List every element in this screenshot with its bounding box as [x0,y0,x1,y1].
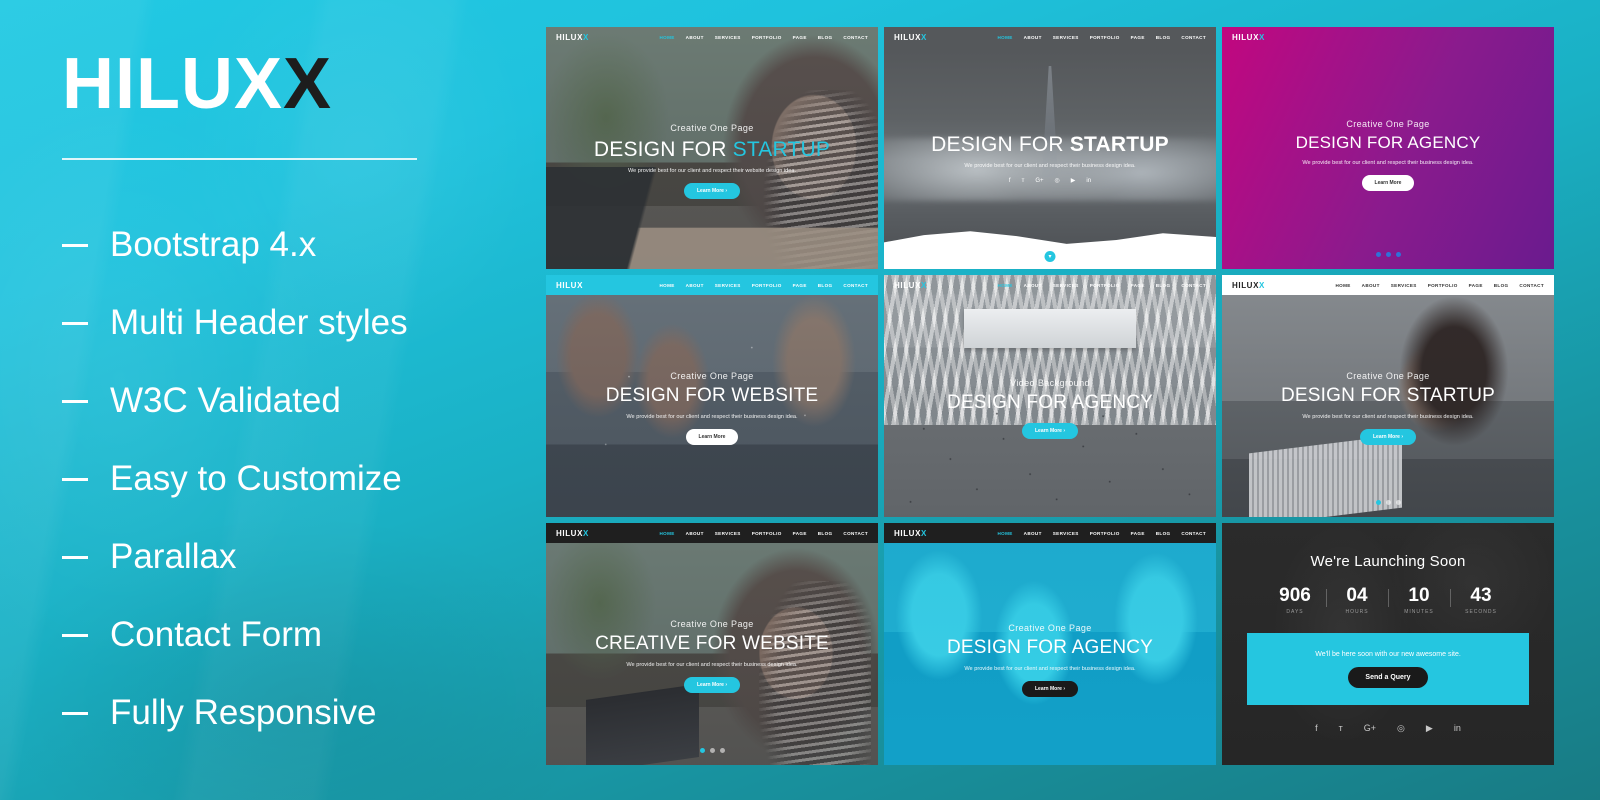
slider-dots[interactable] [546,748,878,753]
nav-item-contact[interactable]: CONTACT [843,35,868,40]
hero-block: Creative One Page DESIGN FOR STARTUP We … [1222,371,1554,445]
mini-navbar: HILUXX HOME ABOUT SERVICES PORTFOLIO PAG… [884,27,1216,47]
learn-more-button[interactable]: Learn More › [684,677,740,693]
slider-dots[interactable] [1222,252,1554,257]
nav-item-about[interactable]: ABOUT [686,531,704,536]
nav-item-home[interactable]: HOME [997,531,1012,536]
slider-dots[interactable] [1222,500,1554,505]
promo-banner: HILUXX Bootstrap 4.x Multi Header styles… [0,0,1600,800]
learn-more-button[interactable]: Learn More › [1360,429,1416,445]
instagram-icon[interactable]: ◎ [1397,724,1405,733]
brand-logo-accent: X [283,44,332,124]
mini-logo: HILUX [556,281,583,290]
slider-dot[interactable] [700,748,705,753]
launch-title: We're Launching Soon [1310,553,1465,570]
feature-item: Parallax [62,518,545,596]
nav-item-services[interactable]: SERVICES [715,531,741,536]
hero-kicker: Creative One Page [546,123,878,133]
hero-subtitle: We provide best for our client and respe… [546,662,878,668]
nav-item-page[interactable]: PAGE [1131,283,1145,288]
nav-item-home[interactable]: HOME [997,35,1012,40]
mini-logo-text: HILUX [894,281,921,290]
slider-dot[interactable] [1376,500,1381,505]
brand-logo: HILUXX [62,48,545,120]
mini-logo-accent: X [1259,281,1265,290]
photo-detail [964,309,1137,348]
mini-nav: HOME ABOUT SERVICES PORTFOLIO PAGE BLOG … [997,531,1206,536]
feature-label: W3C Validated [110,383,341,420]
nav-item-about[interactable]: ABOUT [686,283,704,288]
hero-title: DESIGN FOR STARTUP [884,133,1216,156]
hero-block: Creative One Page DESIGN FOR AGENCY We p… [884,623,1216,697]
hero-subtitle: We provide best for our client and respe… [546,168,878,174]
nav-item-page[interactable]: PAGE [793,531,807,536]
countdown-timer: 906 DAYS 04 HOURS 10 MINUTES 43 SECONDS [1264,586,1512,615]
left-panel: HILUXX Bootstrap 4.x Multi Header styles… [0,0,545,800]
dash-icon [62,322,88,325]
hero-block: Creative One Page DESIGN FOR WEBSITE We … [546,371,878,445]
query-panel: We'll be here soon with our new awesome … [1247,633,1529,705]
mini-logo-text: HILUX [1232,281,1259,290]
mini-nav: HOME ABOUT SERVICES PORTFOLIO PAGE BLOG … [997,283,1206,288]
nav-item-portfolio[interactable]: PORTFOLIO [1090,531,1120,536]
template-thumbnail-startup-desk[interactable]: HILUXX HOME ABOUT SERVICES PORTFOLIO PAG… [1222,275,1554,517]
nav-item-portfolio[interactable]: PORTFOLIO [1090,35,1120,40]
hero-block: DESIGN FOR STARTUP We provide best for o… [884,133,1216,184]
countdown-label: MINUTES [1388,609,1450,615]
google-plus-icon[interactable]: G+ [1364,724,1376,733]
slider-dot[interactable] [720,748,725,753]
countdown-label: DAYS [1264,609,1326,615]
brand-logo-light: HILUX [62,44,283,124]
dash-icon [62,478,88,481]
slider-dot[interactable] [710,748,715,753]
nav-item-about[interactable]: ABOUT [1024,531,1042,536]
hero-subtitle: We provide best for our client and respe… [1222,160,1554,166]
nav-item-contact[interactable]: CONTACT [1519,283,1544,288]
nav-item-portfolio[interactable]: PORTFOLIO [752,283,782,288]
nav-item-home[interactable]: HOME [659,35,674,40]
feature-label: Bootstrap 4.x [110,227,316,264]
nav-item-services[interactable]: SERVICES [1053,283,1079,288]
mini-navbar: HILUX HOME ABOUT SERVICES PORTFOLIO PAGE… [546,275,878,295]
feature-item: Contact Form [62,596,545,674]
nav-item-portfolio[interactable]: PORTFOLIO [752,35,782,40]
scroll-down-icon[interactable]: ▾ [1045,251,1056,262]
mini-nav: HOME ABOUT SERVICES PORTFOLIO PAGE BLOG … [659,531,868,536]
mini-navbar: HILUXX HOME ABOUT SERVICES PORTFOLIO PAG… [884,523,1216,543]
hero-subtitle: We provide best for our client and respe… [1222,414,1554,420]
mini-logo: HILUXX [894,33,927,42]
feature-list: Bootstrap 4.x Multi Header styles W3C Va… [62,206,545,752]
hero-kicker: Creative One Page [546,371,878,381]
mini-navbar: HILUXX HOME ABOUT SERVICES PORTFOLIO PAG… [546,523,878,543]
nav-item-services[interactable]: SERVICES [715,35,741,40]
nav-item-services[interactable]: SERVICES [1053,35,1079,40]
hero-title: DESIGN FOR STARTUP [546,138,878,161]
nav-item-blog[interactable]: BLOG [818,35,833,40]
hero-title: DESIGN FOR AGENCY [1222,134,1554,153]
hero-title: DESIGN FOR STARTUP [1222,386,1554,407]
mini-logo: HILUXX [556,529,589,538]
feature-item: Multi Header styles [62,284,545,362]
nav-item-page[interactable]: PAGE [793,35,807,40]
template-thumbnail-agency-gradient[interactable]: HILUXX Creative One Page DESIGN FOR AGEN… [1222,27,1554,269]
feature-label: Multi Header styles [110,305,408,342]
feature-label: Fully Responsive [110,695,377,732]
template-thumbnail-website-team[interactable]: HILUX HOME ABOUT SERVICES PORTFOLIO PAGE… [546,275,878,517]
nav-item-page[interactable]: PAGE [1469,283,1483,288]
youtube-icon[interactable]: ▶ [1071,178,1076,184]
mini-nav: HOME ABOUT SERVICES PORTFOLIO PAGE BLOG … [659,35,868,40]
nav-item-blog[interactable]: BLOG [1494,283,1509,288]
nav-item-blog[interactable]: BLOG [1156,531,1171,536]
nav-item-home[interactable]: HOME [659,531,674,536]
countdown-value: 906 [1264,586,1326,605]
nav-item-page[interactable]: PAGE [1131,531,1145,536]
nav-item-contact[interactable]: CONTACT [1181,531,1206,536]
mini-logo-text: HILUX [894,529,921,538]
nav-item-contact[interactable]: CONTACT [1181,35,1206,40]
linkedin-icon[interactable]: in [1086,178,1091,184]
feature-item: W3C Validated [62,362,545,440]
hero-kicker: Video Background [884,378,1216,388]
feature-label: Parallax [110,539,236,576]
feature-item: Fully Responsive [62,674,545,752]
mini-logo-accent: X [583,33,589,42]
mini-navbar: HILUXX HOME ABOUT SERVICES PORTFOLIO PAG… [546,27,878,47]
template-thumbnail-agency-duotone[interactable]: HILUXX HOME ABOUT SERVICES PORTFOLIO PAG… [884,523,1216,765]
nav-item-portfolio[interactable]: PORTFOLIO [1428,283,1458,288]
nav-item-home[interactable]: HOME [997,283,1012,288]
hero-block: Creative One Page CREATIVE FOR WEBSITE W… [546,619,878,693]
countdown-value: 04 [1326,586,1388,605]
learn-more-button[interactable]: Learn More [1362,175,1415,191]
nav-item-home[interactable]: HOME [1335,283,1350,288]
countdown-value: 43 [1450,586,1512,605]
hero-kicker: Creative One Page [1222,371,1554,381]
brand-divider [62,158,417,160]
mini-navbar: HILUXX HOME ABOUT SERVICES PORTFOLIO PAG… [1222,275,1554,295]
dash-icon [62,634,88,637]
mini-logo-text: HILUX [556,281,583,290]
learn-more-button[interactable]: Learn More › [1022,681,1078,697]
hero-block: Video Background DESIGN FOR AGENCY Learn… [884,378,1216,439]
mini-nav: HOME ABOUT SERVICES PORTFOLIO PAGE BLOG … [1335,283,1544,288]
nav-item-page[interactable]: PAGE [1131,35,1145,40]
countdown-label: HOURS [1326,609,1388,615]
slider-dot[interactable] [1376,252,1381,257]
template-thumbnail-startup-city[interactable]: HILUXX HOME ABOUT SERVICES PORTFOLIO PAG… [884,27,1216,269]
hero-kicker: Creative One Page [884,623,1216,633]
youtube-icon[interactable]: ▶ [1426,724,1433,733]
nav-item-about[interactable]: ABOUT [686,35,704,40]
hero-subtitle: We provide best for our client and respe… [884,666,1216,672]
countdown-label: SECONDS [1450,609,1512,615]
mini-nav: HOME ABOUT SERVICES PORTFOLIO PAGE BLOG … [659,283,868,288]
template-screenshot-grid: HILUXX HOME ABOUT SERVICES PORTFOLIO PAG… [546,27,1554,765]
mini-navbar: HILUXX [1222,27,1554,47]
social-links: f ᴛ G+ ◎ ▶ in [884,178,1216,184]
mini-logo-text: HILUX [556,33,583,42]
mini-navbar: HILUXX HOME ABOUT SERVICES PORTFOLIO PAG… [884,275,1216,295]
feature-item: Bootstrap 4.x [62,206,545,284]
nav-item-blog[interactable]: BLOG [1156,35,1171,40]
mini-logo-accent: X [921,33,927,42]
slider-dot[interactable] [1396,500,1401,505]
dash-icon [62,400,88,403]
facebook-icon[interactable]: f [1315,724,1318,733]
nav-item-about[interactable]: ABOUT [1362,283,1380,288]
mini-logo-accent: X [921,529,927,538]
learn-more-button[interactable]: Learn More › [684,183,740,199]
launch-content: We're Launching Soon 906 DAYS 04 HOURS 1… [1222,523,1554,765]
mini-logo-text: HILUX [1232,33,1259,42]
nav-item-contact[interactable]: CONTACT [843,283,868,288]
nav-item-portfolio[interactable]: PORTFOLIO [752,531,782,536]
hero-block: Creative One Page DESIGN FOR AGENCY We p… [1222,119,1554,191]
template-thumbnail-creative-website[interactable]: HILUXX HOME ABOUT SERVICES PORTFOLIO PAG… [546,523,878,765]
hero-title: DESIGN FOR WEBSITE [546,386,878,407]
mini-logo: HILUXX [556,33,589,42]
mini-nav: HOME ABOUT SERVICES PORTFOLIO PAGE BLOG … [997,35,1206,40]
mini-logo-text: HILUX [894,33,921,42]
dash-icon [62,556,88,559]
countdown-unit-days: 906 DAYS [1264,586,1326,615]
nav-item-blog[interactable]: BLOG [818,531,833,536]
learn-more-button[interactable]: Learn More [686,429,739,445]
dash-icon [62,244,88,247]
slider-dot[interactable] [1386,500,1391,505]
slider-dot[interactable] [1386,252,1391,257]
nav-item-contact[interactable]: CONTACT [1181,283,1206,288]
feature-item: Easy to Customize [62,440,545,518]
hero-title: CREATIVE FOR WEBSITE [546,634,878,655]
social-links: f ᴛ G+ ◎ ▶ in [1315,724,1461,733]
hero-kicker: Creative One Page [546,619,878,629]
mini-logo-accent: X [1259,33,1265,42]
hero-title: DESIGN FOR AGENCY [884,393,1216,414]
template-thumbnail-launching-soon[interactable]: We're Launching Soon 906 DAYS 04 HOURS 1… [1222,523,1554,765]
hero-title: DESIGN FOR AGENCY [884,638,1216,659]
google-plus-icon[interactable]: G+ [1035,178,1043,184]
hero-block: Creative One Page DESIGN FOR STARTUP We … [546,123,878,199]
hero-title-plain: DESIGN FOR [594,138,733,161]
nav-item-contact[interactable]: CONTACT [843,531,868,536]
countdown-unit-seconds: 43 SECONDS [1450,586,1512,615]
mini-logo-text: HILUX [556,529,583,538]
nav-item-about[interactable]: ABOUT [1024,283,1042,288]
template-thumbnail-agency-video[interactable]: HILUXX HOME ABOUT SERVICES PORTFOLIO PAG… [884,275,1216,517]
twitter-icon[interactable]: ᴛ [1022,178,1025,184]
nav-item-services[interactable]: SERVICES [1053,531,1079,536]
countdown-unit-hours: 04 HOURS [1326,586,1388,615]
template-thumbnail-startup-photo[interactable]: HILUXX HOME ABOUT SERVICES PORTFOLIO PAG… [546,27,878,269]
instagram-icon[interactable]: ◎ [1055,178,1060,184]
mini-logo: HILUXX [1232,33,1265,42]
slider-dot[interactable] [1396,252,1401,257]
send-query-button[interactable]: Send a Query [1348,667,1427,688]
nav-item-home[interactable]: HOME [659,283,674,288]
twitter-icon[interactable]: ᴛ [1339,724,1343,733]
nav-item-services[interactable]: SERVICES [1391,283,1417,288]
hero-subtitle: We provide best for our client and respe… [884,163,1216,169]
mini-logo: HILUXX [1232,281,1265,290]
dash-icon [62,712,88,715]
hero-title-plain: DESIGN FOR [931,133,1070,156]
linkedin-icon[interactable]: in [1454,724,1461,733]
hero-title-bold: STARTUP [1070,133,1169,156]
countdown-value: 10 [1388,586,1450,605]
facebook-icon[interactable]: f [1009,178,1011,184]
nav-item-blog[interactable]: BLOG [818,283,833,288]
nav-item-about[interactable]: ABOUT [1024,35,1042,40]
countdown-unit-minutes: 10 MINUTES [1388,586,1450,615]
mini-logo: HILUXX [894,529,927,538]
nav-item-services[interactable]: SERVICES [715,283,741,288]
nav-item-page[interactable]: PAGE [793,283,807,288]
mini-logo-accent: X [583,529,589,538]
mini-logo-accent: X [921,281,927,290]
hero-title-accent: STARTUP [733,138,830,161]
mini-logo: HILUXX [894,281,927,290]
hero-kicker: Creative One Page [1222,119,1554,129]
query-message: We'll be here soon with our new awesome … [1315,651,1461,658]
feature-label: Easy to Customize [110,461,402,498]
nav-item-blog[interactable]: BLOG [1156,283,1171,288]
hero-subtitle: We provide best for our client and respe… [546,414,878,420]
feature-label: Contact Form [110,617,322,654]
nav-item-portfolio[interactable]: PORTFOLIO [1090,283,1120,288]
learn-more-button[interactable]: Learn More › [1022,423,1078,439]
